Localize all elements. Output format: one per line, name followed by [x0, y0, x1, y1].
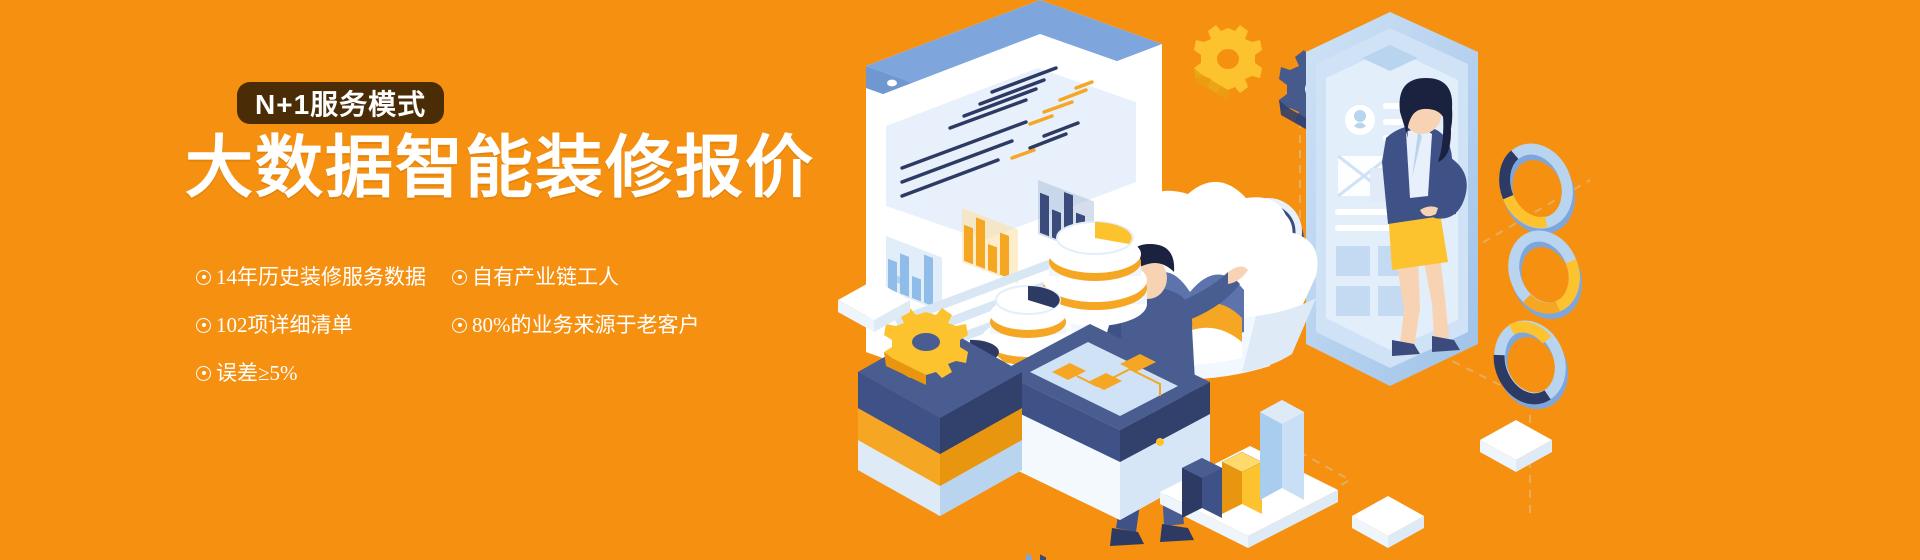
list-item-label: 误差≥5% [216, 363, 298, 384]
target-dot-icon [196, 318, 211, 333]
bigdata-isometric-illustration [830, 0, 1920, 560]
list-item-label: 14年历史装修服务数据 [216, 267, 426, 288]
feature-bullet-groups: 14年历史装修服务数据 102项详细清单 误差≥5% 自有产业链工人 [196, 258, 700, 402]
bullet-column-right: 自有产业链工人 80%的业务来源于老客户 [452, 258, 700, 402]
list-item: 80%的业务来源于老客户 [452, 306, 700, 344]
list-item-label: 80%的业务来源于老客户 [472, 315, 700, 336]
banner-copy-block: N+1服务模式 大数据智能装修报价 14年历史装修服务数据 102项详细清单 误… [0, 0, 860, 560]
headline-text: 大数据智能装修报价 [185, 130, 815, 206]
list-item: 误差≥5% [196, 354, 426, 392]
promo-banner: N+1服务模式 大数据智能装修报价 14年历史装修服务数据 102项详细清单 误… [0, 0, 1920, 560]
list-item: 自有产业链工人 [452, 258, 700, 296]
donut-ring-chart-3 [1488, 317, 1573, 413]
list-item: 102项详细清单 [196, 306, 426, 344]
target-dot-icon [452, 318, 467, 333]
list-item: 14年历史装修服务数据 [196, 258, 426, 296]
target-dot-icon [452, 270, 467, 285]
service-model-badge: N+1服务模式 [237, 82, 444, 124]
page-title: 大数据智能装修报价 [185, 132, 815, 205]
donut-ring-chart-2 [1503, 227, 1587, 323]
donut-ring-chart-1 [1494, 140, 1580, 239]
bullet-column-left: 14年历史装修服务数据 102项详细清单 误差≥5% [196, 258, 426, 402]
target-dot-icon [196, 270, 211, 285]
service-model-badge-label: N+1服务模式 [255, 83, 426, 123]
floating-tile-card [1480, 420, 1552, 472]
floating-tile-card [1352, 496, 1424, 548]
target-dot-icon [196, 366, 211, 381]
list-item-label: 102项详细清单 [216, 315, 353, 336]
gear-icon-yellow [1194, 25, 1262, 100]
list-item-label: 自有产业链工人 [472, 267, 619, 288]
